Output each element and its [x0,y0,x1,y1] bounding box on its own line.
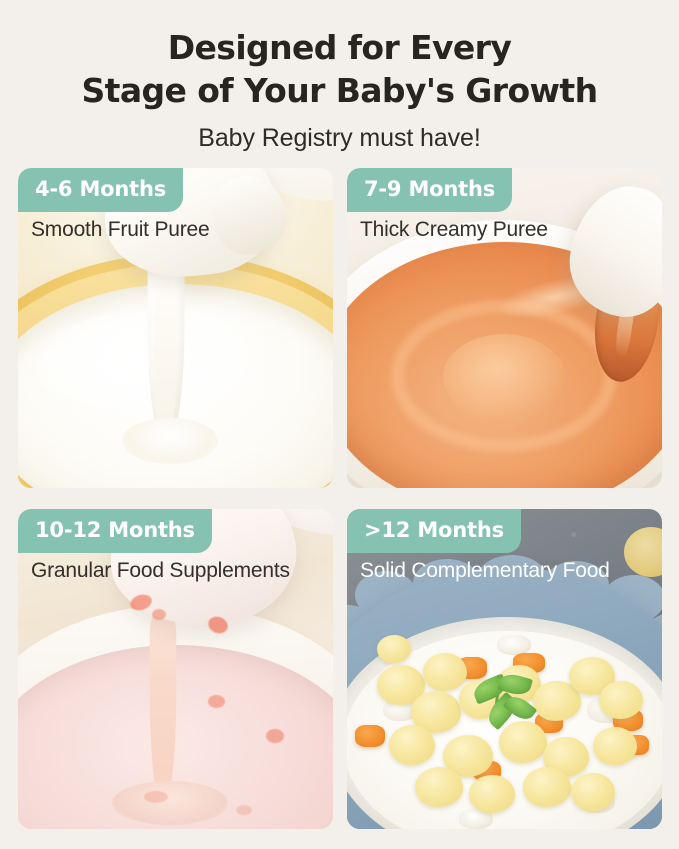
page-title: Designed for Every Stage of Your Baby's … [0,26,679,112]
stage-caption: Smooth Fruit Puree [31,216,327,243]
age-badge: 7-9 Months [347,168,512,212]
stage-card-4-6-months[interactable]: 4-6 Months Smooth Fruit Puree [18,168,333,488]
stage-card-grid: 4-6 Months Smooth Fruit Puree 7-9 Months… [18,168,662,829]
header: Designed for Every Stage of Your Baby's … [0,0,679,153]
stage-caption: Granular Food Supplements [31,557,327,584]
age-badge: 4-6 Months [18,168,183,212]
age-badge: >12 Months [347,509,521,553]
promo-page: Designed for Every Stage of Your Baby's … [0,0,679,849]
stage-card-10-12-months[interactable]: 10-12 Months Granular Food Supplements [18,509,333,829]
stage-card-over-12-months[interactable]: >12 Months Solid Complementary Food [347,509,662,829]
stage-caption: Thick Creamy Puree [360,216,656,243]
page-subtitle: Baby Registry must have! [0,123,679,153]
age-badge: 10-12 Months [18,509,212,553]
stage-caption: Solid Complementary Food [360,557,656,584]
stage-card-7-9-months[interactable]: 7-9 Months Thick Creamy Puree [347,168,662,488]
